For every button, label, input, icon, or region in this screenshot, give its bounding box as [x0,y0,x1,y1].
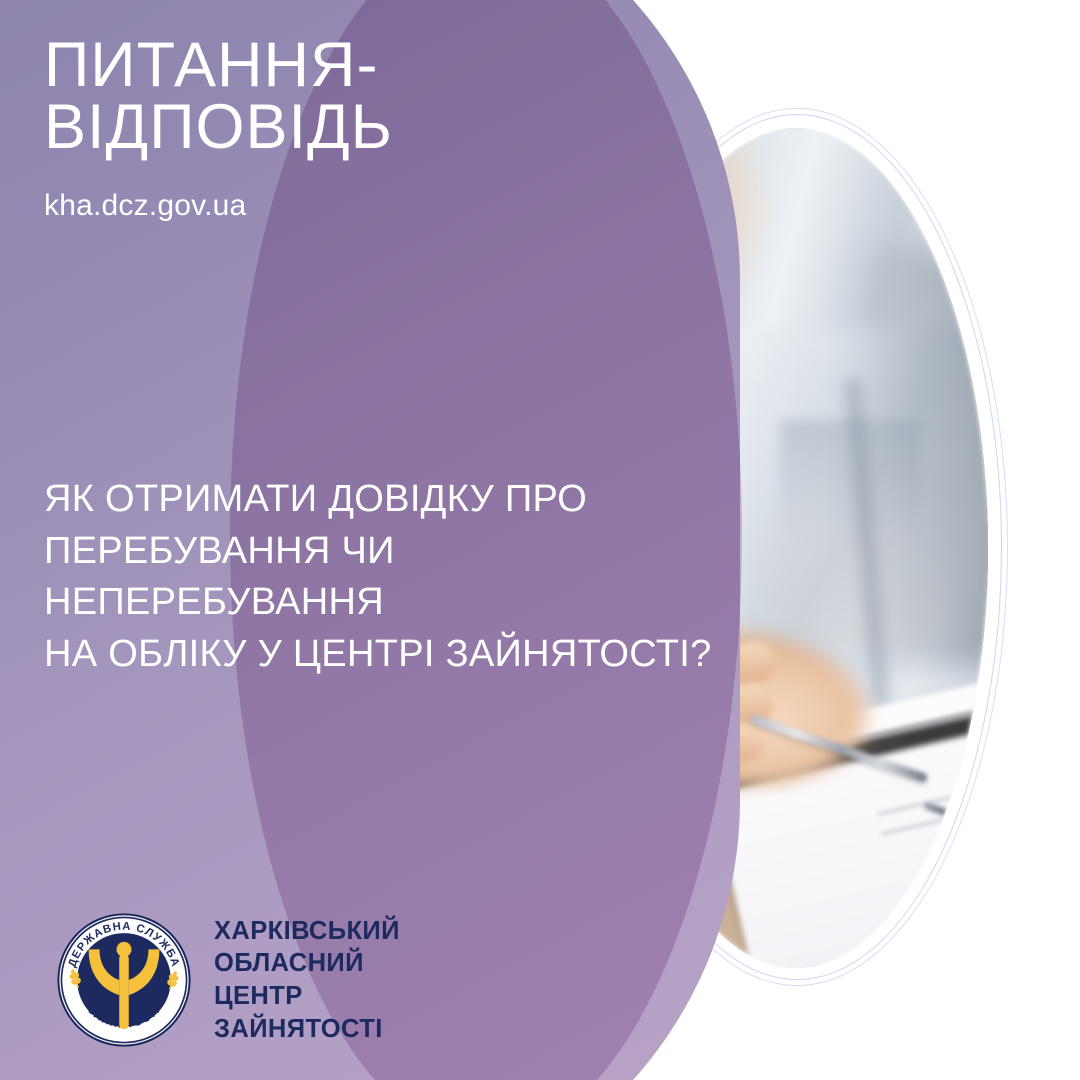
page-title: ПИТАННЯ- ВІДПОВІДЬ [44,34,684,159]
footer-branding: ДЕРЖАВНА СЛУЖБА ЗАЙНЯТОСТІ [56,912,400,1048]
website-url[interactable]: kha.dcz.gov.ua [44,189,684,223]
poster-canvas: signature ПИТАННЯ- ВІДПОВІДЬ kha.dcz.gov… [0,0,1080,1080]
organization-name: ХАРКІВСЬКИЙ ОБЛАСНИЙ ЦЕНТР ЗАЙНЯТОСТІ [214,915,400,1046]
state-employment-service-logo: ДЕРЖАВНА СЛУЖБА ЗАЙНЯТОСТІ [56,912,192,1048]
question-text: ЯК ОТРИМАТИ ДОВІДКУ ПРО ПЕРЕБУВАННЯ ЧИ Н… [44,474,744,681]
header-block: ПИТАННЯ- ВІДПОВІДЬ kha.dcz.gov.ua [44,34,684,223]
